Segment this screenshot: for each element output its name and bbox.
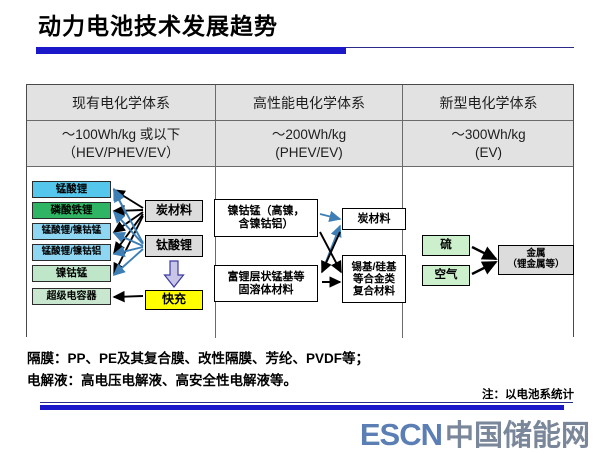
node-lithium-manganate[interactable]: 锰酸锂 [32,181,111,198]
column-header-high-performance: 高性能电化学体系 [216,85,402,121]
footnote: 注：以电池系统计 [482,386,574,402]
footer-line-separator: 隔膜：PP、PE及其复合膜、改性隔膜、芳纶、PVDF等； [27,348,567,370]
slide-root: 动力电池技术发展趋势 现有电化学体系 高性能电化学体系 新型电化学体系 ～100… [0,0,600,450]
page-title: 动力电池技术发展趋势 [38,14,278,39]
node-lithium-iron-phosphate[interactable]: 磷酸铁锂 [32,202,111,219]
footer-rule [40,402,573,403]
column-spec-high-performance: ～200Wh/kg (PHEV/EV) [216,121,402,167]
node-fast-charge[interactable]: 快充 [145,290,203,310]
node-line-1: 富锂层状锰基等 [228,271,305,284]
node-ncm-high-nickel[interactable]: 镍钴锰（高镍， 含镍钴铝） [214,199,318,237]
node-carbon-material-col2[interactable]: 炭材料 [342,208,406,230]
watermark: ESCN 中国储能网 [360,412,590,454]
spec-line-1: ～300Wh/kg [451,126,525,144]
node-lithium-titanate[interactable]: 钛酸锂 [145,235,203,257]
column-header-new-type: 新型电化学体系 [403,85,574,121]
spec-line-2: (PHEV/EV) [275,144,343,162]
column-header-existing: 现有电化学体系 [27,85,215,121]
column-spec-new-type: ～300Wh/kg (EV) [403,121,574,167]
node-tin-silicon-alloy-composite[interactable]: 锡基/硅基 等合金类 复合材料 [342,255,406,303]
spec-line-2: (EV) [475,144,502,162]
watermark-brand: ESCN [360,417,442,453]
node-lmo-ncm[interactable]: 锰酸锂/镍钴锰 [32,223,111,240]
spec-line-1: ～200Wh/kg [272,126,346,144]
node-line-2: 等合金类 [352,273,397,285]
footer-accent-bar [40,405,564,410]
node-lithium-rich-solid-solution[interactable]: 富锂层状锰基等 固溶体材料 [214,265,318,302]
footer-text: 隔膜：PP、PE及其复合膜、改性隔膜、芳纶、PVDF等； 电解液：高电压电解液、… [27,348,567,391]
node-line-1: 镍钴锰（高镍， [228,205,305,218]
down-arrow-icon [163,260,185,288]
node-line-2: 固溶体材料 [228,284,305,297]
watermark-site-name: 中国储能网 [445,412,590,454]
spec-line-2: （HEV/PHEV/EV） [62,144,179,162]
column-spec-existing: ～100Wh/kg 或以下 （HEV/PHEV/EV） [27,121,215,167]
node-ncm[interactable]: 镍钴锰 [32,265,111,282]
node-lmo-nca[interactable]: 锰酸锂/镍钴铝 [32,244,111,261]
node-line-3: 复合材料 [352,285,397,297]
node-sulfur[interactable]: 硫 [422,235,470,256]
title-accent-bar [36,47,346,54]
node-carbon-material-col1[interactable]: 炭材料 [145,200,203,222]
node-metal-lithium[interactable]: 金属 （锂金属等） [498,245,574,275]
node-supercapacitor[interactable]: 超级电容器 [32,288,111,305]
node-line-2: 含镍钴铝） [228,218,305,231]
spec-line-1: ～100Wh/kg 或以下 [62,126,181,144]
node-line-1: 锡基/硅基 [352,261,397,273]
node-line-2: （锂金属等） [507,260,564,271]
node-air[interactable]: 空气 [422,265,470,286]
